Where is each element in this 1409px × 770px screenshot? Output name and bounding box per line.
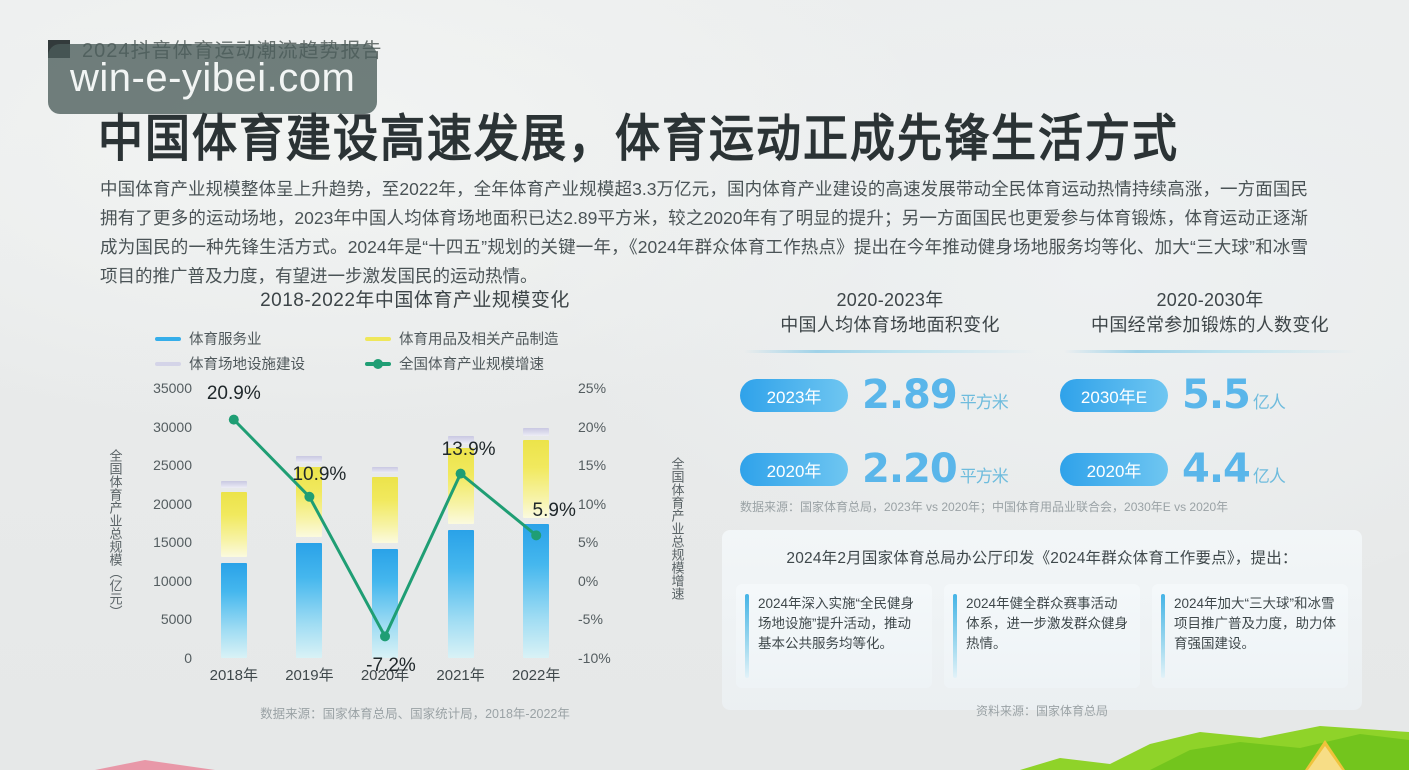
legend-item-growth: 全国体育产业规模增速 xyxy=(365,353,690,374)
y-axis-label-left: 全国体育产业总规模（亿元） xyxy=(106,426,124,641)
stats-source-note: 数据来源：国家体育总局，2023年 vs 2020年；中国体育用品业联合会，20… xyxy=(740,498,1360,515)
y-axis-right: 25%20%15%10%5%0%-5%-10% xyxy=(578,388,640,658)
stat-panel-venue-area: 2020-2023年 中国人均体育场地面积变化 2023年 2.89平方米 20… xyxy=(740,288,1040,489)
intro-paragraph: 中国体育产业规模整体呈上升趋势，至2022年，全年体育产业规模超3.3万亿元，国… xyxy=(100,175,1308,291)
stat-number: 5.5 xyxy=(1182,372,1250,418)
y-tick-left: 35000 xyxy=(153,380,192,396)
page-title: 中国体育建设高速发展，体育运动正成先锋生活方式 xyxy=(98,98,1179,171)
chart-source-note: 数据来源：国家体育总局、国家统计局，2018年-2022年 xyxy=(100,703,690,722)
legend-label-service: 体育服务业 xyxy=(189,328,262,349)
y-tick-right: 15% xyxy=(578,457,606,473)
legend-label-goods: 体育用品及相关产品制造 xyxy=(399,328,559,349)
policy-heading: 2024年2月国家体育总局办公厅印发《2024年群众体育工作要点》，提出： xyxy=(722,530,1362,568)
y-tick-left: 5000 xyxy=(161,611,192,627)
growth-line-series xyxy=(196,388,574,658)
y-tick-right: 0% xyxy=(578,573,598,589)
policy-accent-bar-icon xyxy=(1161,594,1165,678)
x-tick: 2018年 xyxy=(210,664,258,685)
policy-card-list: 2024年深入实施“全民健身场地设施”提升活动，推动基本公共服务均等化。 202… xyxy=(722,568,1362,688)
growth-data-label: 13.9% xyxy=(442,439,496,461)
x-tick: 2022年 xyxy=(512,664,560,685)
stat-unit: 平方米 xyxy=(960,393,1008,413)
stat-row: 2030年E 5.5亿人 xyxy=(1060,375,1360,415)
stat-number: 4.4 xyxy=(1182,446,1250,492)
stat-divider xyxy=(1064,350,1356,353)
stat-pill-year: 2023年 xyxy=(740,379,848,412)
policy-source-note: 资料来源：国家体育总局 xyxy=(722,702,1362,719)
chart-legend: 体育服务业 体育用品及相关产品制造 体育场地设施建设 全国体育产业规模增速 xyxy=(100,328,690,374)
policy-card: 2024年深入实施“全民健身场地设施”提升活动，推动基本公共服务均等化。 xyxy=(736,584,932,688)
y-tick-right: -10% xyxy=(578,650,611,666)
landscape-decoration-icon xyxy=(0,724,1409,770)
stat-pill-year: 2020年 xyxy=(740,453,848,486)
growth-data-label: -7.2% xyxy=(366,655,416,677)
stat-pill-year: 2030年E xyxy=(1060,379,1168,412)
policy-card-text: 2024年加大“三大球”和冰雪项目推广普及力度，助力体育强国建设。 xyxy=(1174,594,1338,678)
stat-panel-title-1: 2020-2023年 中国人均体育场地面积变化 xyxy=(740,288,1040,338)
y-tick-right: 10% xyxy=(578,496,606,512)
policy-card: 2024年加大“三大球”和冰雪项目推广普及力度，助力体育强国建设。 xyxy=(1152,584,1348,688)
stat-title-line1: 2020-2030年 xyxy=(1060,288,1360,313)
y-tick-right: 25% xyxy=(578,380,606,396)
growth-data-label: 5.9% xyxy=(533,500,576,522)
y-tick-left: 0 xyxy=(184,650,192,666)
legend-swatch-venue xyxy=(155,362,181,366)
policy-highlight-box: 2024年2月国家体育总局办公厅印发《2024年群众体育工作要点》，提出： 20… xyxy=(722,530,1362,710)
stat-number: 2.20 xyxy=(862,446,957,492)
policy-accent-bar-icon xyxy=(745,594,749,678)
growth-data-label: 20.9% xyxy=(207,383,261,405)
policy-card-text: 2024年深入实施“全民健身场地设施”提升活动，推动基本公共服务均等化。 xyxy=(758,594,922,678)
stat-row: 2020年 4.4亿人 xyxy=(1060,449,1360,489)
y-tick-left: 25000 xyxy=(153,457,192,473)
stat-value: 2.89平方米 xyxy=(862,375,1008,415)
growth-line-point xyxy=(380,631,390,641)
y-tick-right: -5% xyxy=(578,611,603,627)
stat-panel-exercise-population: 2020-2030年 中国经常参加锻炼的人数变化 2030年E 5.5亿人 20… xyxy=(1060,288,1360,489)
x-tick: 2019年 xyxy=(285,664,333,685)
growth-line-point xyxy=(229,415,239,425)
x-tick: 2021年 xyxy=(436,664,484,685)
stat-value: 2.20平方米 xyxy=(862,449,1008,489)
stat-row: 2020年 2.20平方米 xyxy=(740,449,1040,489)
policy-card: 2024年健全群众赛事活动体系，进一步激发群众健身热情。 xyxy=(944,584,1140,688)
policy-accent-bar-icon xyxy=(953,594,957,678)
stat-title-line2: 中国经常参加锻炼的人数变化 xyxy=(1060,313,1360,338)
stat-value: 4.4亿人 xyxy=(1182,449,1285,489)
stat-panel-title-2: 2020-2030年 中国经常参加锻炼的人数变化 xyxy=(1060,288,1360,338)
growth-line-point xyxy=(304,492,314,502)
legend-swatch-goods xyxy=(365,337,391,341)
stat-row: 2023年 2.89平方米 xyxy=(740,375,1040,415)
stat-unit: 平方米 xyxy=(960,467,1008,487)
legend-swatch-growth xyxy=(365,362,391,366)
legend-item-goods: 体育用品及相关产品制造 xyxy=(365,328,690,349)
stat-divider xyxy=(744,350,1036,353)
stat-number: 2.89 xyxy=(862,372,957,418)
y-tick-right: 20% xyxy=(578,419,606,435)
chart-plot-area: 全国体育产业总规模（亿元） 35000300002500020000150001… xyxy=(100,388,690,688)
y-tick-left: 20000 xyxy=(153,496,192,512)
y-tick-left: 30000 xyxy=(153,419,192,435)
legend-label-growth: 全国体育产业规模增速 xyxy=(399,353,544,374)
growth-line-point xyxy=(531,530,541,540)
legend-swatch-service xyxy=(155,337,181,341)
growth-data-label: 10.9% xyxy=(292,464,346,486)
growth-line-point xyxy=(456,469,466,479)
stat-title-line1: 2020-2023年 xyxy=(740,288,1040,313)
y-axis-left: 35000300002500020000150001000050000 xyxy=(124,388,192,658)
y-axis-label-right: 全国体育产业总规模增速 xyxy=(668,428,686,628)
stat-unit: 亿人 xyxy=(1253,393,1285,413)
y-tick-left: 15000 xyxy=(153,534,192,550)
policy-card-text: 2024年健全群众赛事活动体系，进一步激发群众健身热情。 xyxy=(966,594,1130,678)
stat-title-line2: 中国人均体育场地面积变化 xyxy=(740,313,1040,338)
stat-value: 5.5亿人 xyxy=(1182,375,1285,415)
y-tick-right: 5% xyxy=(578,534,598,550)
legend-label-venue: 体育场地设施建设 xyxy=(189,353,305,374)
bottom-decoration xyxy=(0,724,1409,770)
stat-pill-year: 2020年 xyxy=(1060,453,1168,486)
industry-scale-chart: 2018-2022年中国体育产业规模变化 体育服务业 体育用品及相关产品制造 体… xyxy=(100,285,690,725)
chart-title: 2018-2022年中国体育产业规模变化 xyxy=(100,285,690,312)
legend-item-venue: 体育场地设施建设 xyxy=(155,353,365,374)
y-tick-left: 10000 xyxy=(153,573,192,589)
legend-item-service: 体育服务业 xyxy=(155,328,365,349)
stat-unit: 亿人 xyxy=(1253,467,1285,487)
